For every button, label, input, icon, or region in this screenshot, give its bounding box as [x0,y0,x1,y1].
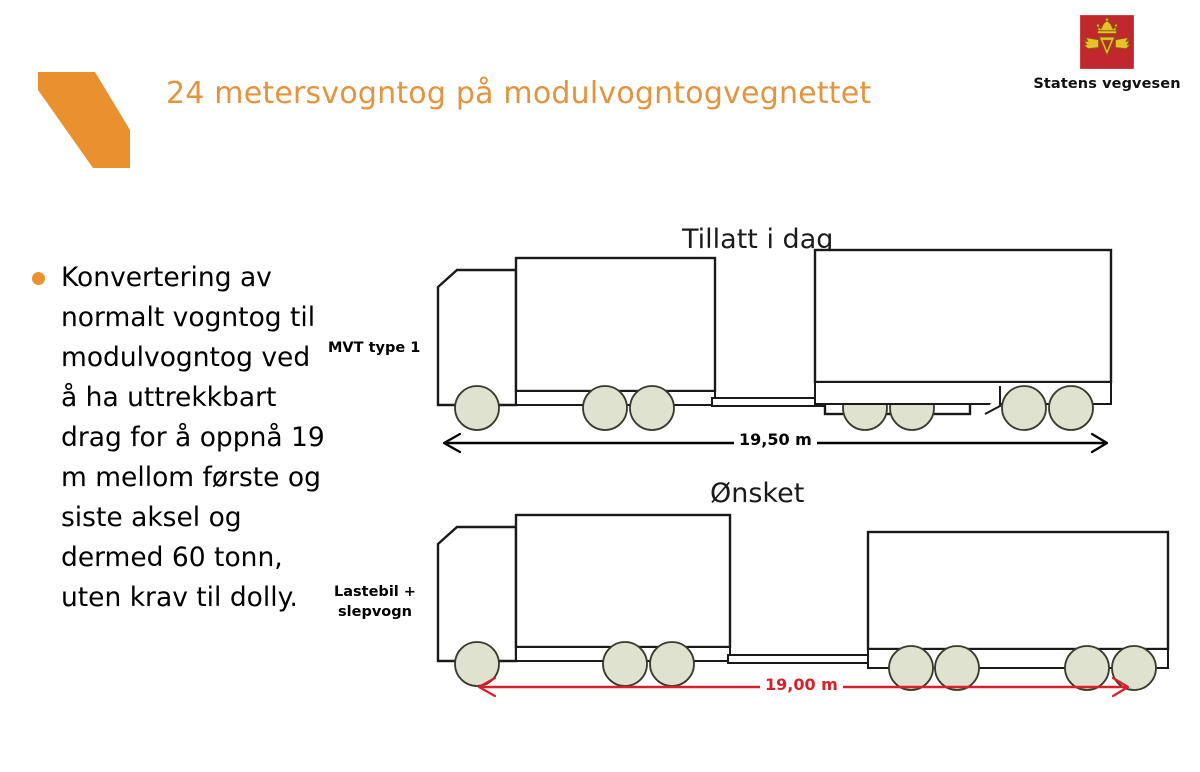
truck-configuration-diagram: .bodyline { fill:#ffffff; stroke:#1a1a1a… [320,200,1190,740]
diagram-area: Tillatt i dag MVT type 1 Ønsket Lastebil… [320,200,1190,740]
page-title: 24 metersvogntog på modulvogntogvegnette… [166,76,871,112]
top-truck-cargo-box [516,258,715,405]
bottom-truck-drive-wheel-1 [603,642,647,686]
bottom-truck-drive-wheel-2 [650,642,694,686]
top-truck-front-wheel [455,386,499,430]
top-drawbar [712,398,828,406]
diagram-top-current [438,250,1111,452]
bottom-truck-cab [438,527,516,661]
top-trailer-wheel-1 [1002,386,1046,430]
bullet-item-text: Konvertering av normalt vogntog til modu… [61,258,332,618]
logo-block: Statens vegvesen [1022,14,1192,92]
bottom-truck-cargo-box [516,515,730,661]
bottom-extendable-drawbar [728,655,868,663]
dimension-label-top: 19,50 m [734,430,817,449]
statens-vegvesen-emblem-icon [1079,14,1135,70]
top-truck-drive-wheel-1 [583,386,627,430]
bottom-trailer-wheel-4 [1112,646,1156,690]
dimension-label-bottom: 19,00 m [760,675,843,694]
top-trailer-cargo-box [815,250,1111,404]
bullet-list: Konvertering av normalt vogntog til modu… [32,258,332,618]
top-truck-cab [438,270,516,405]
top-trailer-wheel-2 [1049,386,1093,430]
bottom-trailer-wheel-2 [935,646,979,690]
bullet-marker-icon [32,272,45,285]
bottom-trailer-wheel-1 [889,646,933,690]
top-truck-drive-wheel-2 [630,386,674,430]
logo-wordmark: Statens vegvesen [1022,76,1192,92]
bottom-trailer-wheel-3 [1065,646,1109,690]
orange-accent-shape [38,68,130,168]
diagram-bottom-desired [438,515,1168,696]
